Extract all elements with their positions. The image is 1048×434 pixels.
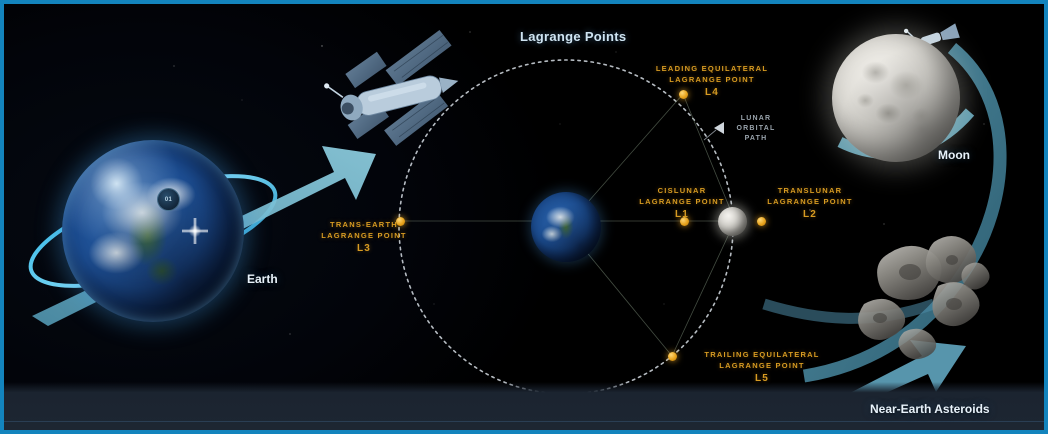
label-L5-point: L5	[684, 373, 840, 384]
label-L3-line2: LAGRANGE POINT	[321, 231, 406, 240]
label-earth: Earth	[247, 272, 278, 286]
label-lunar-orbital-path: LUNAR ORBITAL PATH	[726, 114, 786, 144]
lunar-path-line2: ORBITAL	[737, 125, 776, 132]
label-L4-point: L4	[637, 87, 787, 98]
label-L1-point: L1	[616, 209, 748, 220]
band-divider	[4, 421, 1044, 422]
earth-globe	[62, 140, 244, 322]
label-L4: LEADING EQUILATERAL LAGRANGE POINT L4	[637, 63, 787, 98]
moon-globe	[832, 34, 960, 162]
label-L2-line2: LAGRANGE POINT	[767, 197, 852, 206]
label-L5-line1: TRAILING EQUILATERAL	[704, 350, 819, 359]
label-L4-line2: LAGRANGE POINT	[669, 75, 754, 84]
label-L2: TRANSLUNAR LAGRANGE POINT L2	[744, 185, 876, 220]
label-L5: TRAILING EQUILATERAL LAGRANGE POINT L5	[684, 349, 840, 384]
label-L5-line2: LAGRANGE POINT	[719, 361, 804, 370]
earth-badge: 01	[157, 188, 180, 211]
lagrange-points-diagram: 01 Lagrange Points LEADING EQUILATERAL L…	[0, 0, 1048, 434]
label-L3: TRANS-EARTH LAGRANGE POINT L3	[300, 219, 428, 254]
marker-L5[interactable]	[668, 352, 677, 361]
spacecraft-icon	[318, 28, 472, 159]
lunar-path-line3: PATH	[745, 135, 768, 142]
asteroid-cluster	[858, 236, 990, 359]
label-L2-line1: TRANSLUNAR	[778, 186, 843, 195]
page-title: Lagrange Points	[520, 29, 626, 44]
earth-flare-icon	[182, 218, 208, 244]
label-L2-point: L2	[744, 209, 876, 220]
label-L1-line2: LAGRANGE POINT	[639, 197, 724, 206]
lunar-path-line1: LUNAR	[741, 115, 772, 122]
label-moon: Moon	[938, 148, 970, 162]
label-L3-point: L3	[300, 243, 428, 254]
label-L1-line1: CISLUNAR	[658, 186, 707, 195]
label-L3-line1: TRANS-EARTH	[330, 220, 398, 229]
earth-center-globe	[531, 192, 601, 262]
label-L4-line1: LEADING EQUILATERAL	[656, 64, 768, 73]
label-L1: CISLUNAR LAGRANGE POINT L1	[616, 185, 748, 220]
label-near-earth-asteroids: Near-Earth Asteroids	[870, 402, 990, 416]
